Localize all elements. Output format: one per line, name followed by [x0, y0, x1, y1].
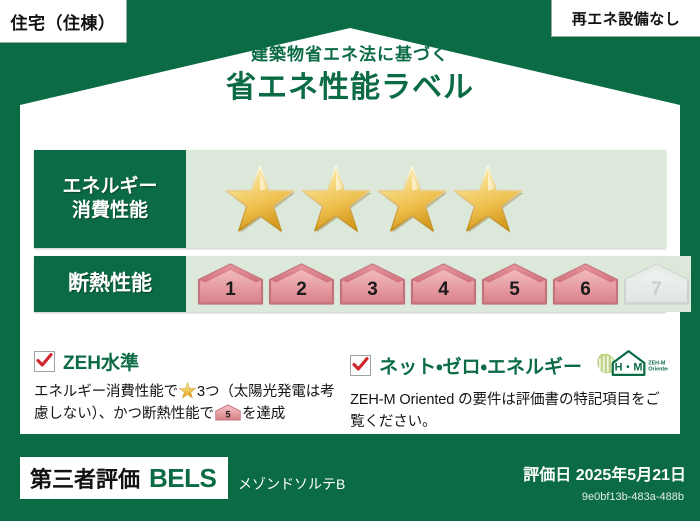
row-energy-body — [186, 150, 666, 248]
tag-renewable-none-label: 再エネ設備なし — [572, 8, 681, 29]
note-zeh-text-1: エネルギー消費性能で — [34, 384, 178, 400]
note-net-zero-body: ZEH-M Oriented の要件は評価書の特記項目をご覧ください。 — [350, 389, 668, 433]
row-insulation-performance: 断熱性能 1234567 — [34, 256, 666, 312]
tag-housing-type: 住宅（住棟） — [0, 0, 127, 43]
certificate-id: 9e0bf13b-483a-488b — [582, 491, 684, 503]
star-icon — [452, 164, 524, 234]
bels-badge-en: BELS — [149, 463, 216, 494]
note-zeh-standard: ZEH水準 エネルギー消費性能で3つ（太陽光発電は考慮しない）、かつ断熱性能で5… — [34, 348, 338, 433]
note-net-zero-title: ネット・ゼロ・エネルギー — [379, 352, 582, 379]
evaluation-date-value: 2025年5月21日 — [576, 467, 686, 484]
note-net-zero-energy: ネット・ゼロ・エネルギー H・M ZEH-M Oriented ZEH-M Or… — [350, 348, 668, 433]
bels-badge: 第三者評価 BELS — [20, 457, 228, 499]
tag-renewable-none: 再エネ設備なし — [551, 0, 700, 37]
row-insulation-body: 1234567 — [186, 256, 691, 312]
grade-house-4: 4 — [409, 262, 478, 306]
svg-text:ZEH-M: ZEH-M — [648, 360, 666, 366]
zeh-m-oriented-logo-icon: H・M ZEH-M Oriented — [594, 348, 668, 383]
house-icon — [551, 262, 620, 306]
tag-housing-type-label: 住宅（住棟） — [11, 9, 116, 34]
grade-house-3: 3 — [338, 262, 407, 306]
house-icon — [480, 262, 549, 306]
grade-house-1: 1 — [196, 262, 265, 306]
grade-house-7: 7 — [622, 262, 691, 306]
star-icon — [376, 164, 448, 234]
row-insulation-label-line1: 断熱性能 — [68, 271, 152, 297]
house-icon — [267, 262, 336, 306]
svg-text:Oriented: Oriented — [648, 366, 668, 372]
grade-house-5: 5 — [480, 262, 549, 306]
note-zeh-text-3: を達成 — [242, 406, 285, 422]
grade-house-icon-inline: 5 — [215, 404, 241, 421]
page-title: 省エネ性能ラベル — [0, 62, 700, 106]
house-icon — [196, 262, 265, 306]
star-icon — [300, 164, 372, 234]
star-rating — [186, 164, 524, 234]
note-zeh-standard-title: ZEH水準 — [63, 348, 139, 375]
row-insulation-label: 断熱性能 — [34, 256, 186, 312]
grade-house-6: 6 — [551, 262, 620, 306]
evaluation-date-label: 評価日 — [523, 467, 571, 484]
note-zeh-standard-head: ZEH水準 — [34, 348, 338, 375]
note-zeh-standard-body: エネルギー消費性能で3つ（太陽光発電は考慮しない）、かつ断熱性能で5を達成 — [34, 381, 338, 425]
grade-house-2: 2 — [267, 262, 336, 306]
checkbox-checked-icon — [34, 351, 55, 372]
row-energy-label-line1: エネルギー — [62, 175, 157, 199]
row-energy-label-line2: 消費性能 — [72, 199, 148, 223]
evaluation-date: 評価日 2025年5月21日 — [523, 461, 686, 485]
house-icon — [338, 262, 407, 306]
star-icon-inline — [179, 382, 196, 399]
house-icon — [622, 262, 691, 306]
checkbox-checked-icon — [350, 355, 371, 376]
note-net-zero-head: ネット・ゼロ・エネルギー H・M ZEH-M Oriented — [350, 348, 668, 383]
svg-text:5: 5 — [225, 409, 230, 419]
row-energy-label: エネルギー 消費性能 — [34, 150, 186, 248]
insulation-grade-scale: 1234567 — [186, 262, 691, 306]
star-icon — [224, 164, 296, 234]
building-name: メゾンドソルテB — [238, 474, 345, 494]
house-icon — [409, 262, 478, 306]
svg-text:H・M: H・M — [615, 361, 643, 373]
footer: 第三者評価 BELS メゾンドソルテB 評価日 2025年5月21日 9e0bf… — [0, 441, 700, 521]
row-energy-performance: エネルギー 消費性能 — [34, 150, 666, 248]
performance-rows: エネルギー 消費性能 断熱性能 1234567 — [34, 150, 666, 320]
bels-badge-jp: 第三者評価 — [30, 462, 140, 494]
notes-section: ZEH水準 エネルギー消費性能で3つ（太陽光発電は考慮しない）、かつ断熱性能で5… — [34, 348, 668, 433]
